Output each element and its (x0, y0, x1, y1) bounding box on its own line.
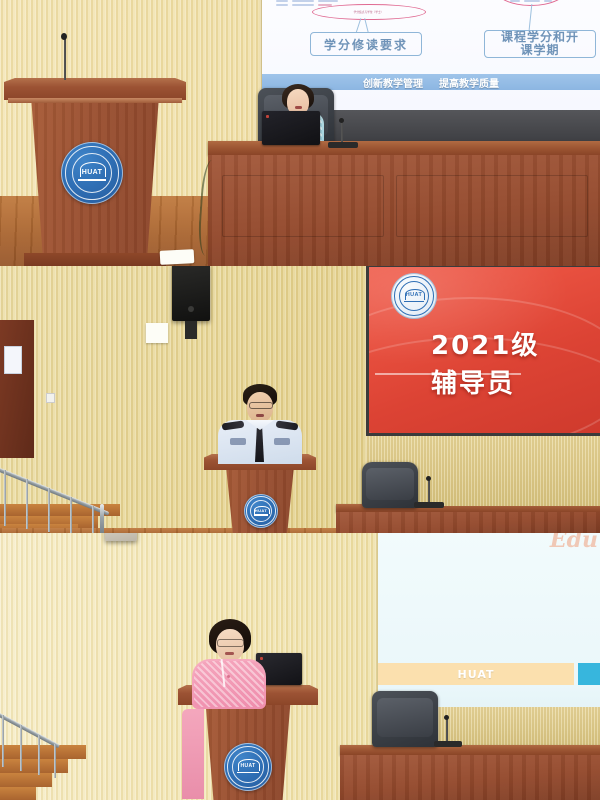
office-chair (372, 691, 438, 747)
podium-mic-head (61, 33, 67, 40)
speaker-mount (185, 321, 197, 339)
laptop-screen (262, 111, 320, 145)
led-banner-screen: 2021级 辅导员 HUAT (366, 266, 600, 436)
huat-seal-banner: HUAT (391, 273, 437, 319)
collage-panel-middle: 2021级 辅导员 HUAT (0, 266, 600, 533)
handrail-post-4 (70, 497, 72, 533)
slide-connector-right (529, 4, 533, 30)
slide-callout-right: 课程学分和开 课学期 (484, 30, 596, 58)
collage-panel-bottom: Edu HUAT (0, 533, 600, 800)
handrail-vertical-end (100, 504, 104, 533)
stair-handrail (0, 701, 62, 800)
podium-mic-stem (64, 38, 66, 80)
conference-desk (208, 141, 600, 266)
handrail-post-3 (38, 735, 40, 775)
speaker-cone (188, 306, 194, 312)
mic-head (426, 476, 431, 481)
slide-callout-left: 学分修读要求 (310, 32, 422, 56)
officer-mouth (256, 414, 264, 417)
podium-base (24, 253, 166, 266)
conference-desk (336, 504, 600, 533)
pink-speaker (180, 619, 290, 709)
slide-table-left (276, 0, 338, 6)
slide-connector-left (356, 18, 362, 33)
banner-content: 2021级 辅导员 HUAT (369, 267, 600, 433)
huat-seal-podium: HUAT (224, 743, 272, 791)
seal-bar (237, 772, 258, 773)
handrail-post-3 (48, 488, 50, 532)
slide-connector-left2 (364, 18, 369, 33)
handrail-bar (0, 709, 60, 748)
wall-switch (46, 393, 55, 403)
huat-seal-podium: HUAT (61, 142, 123, 204)
desk-panel-line-1 (222, 175, 384, 237)
pink-speaker-mouth (225, 652, 234, 655)
photo-collage: 学分绩点与学位（学士） 学分修读要求 课程学分和开 课学期 创新教学管理 提高教… (0, 0, 600, 800)
handrail-post-1 (2, 715, 4, 767)
banner-line2: 辅导员 (431, 363, 515, 400)
chair-cushion (366, 468, 413, 500)
mic-base (414, 502, 444, 508)
speaker-mouth (295, 106, 302, 109)
mic-stem (446, 719, 448, 743)
wall-speaker (172, 266, 210, 321)
seal-bar (78, 179, 105, 181)
office-chair (362, 462, 418, 508)
mic-base (434, 741, 462, 747)
pink-speaker-glasses (217, 639, 244, 647)
slide-cursive-text: Edu (550, 533, 598, 553)
slide-footer-right: 提高教学质量 (439, 75, 499, 90)
podium-top (4, 78, 186, 100)
podium: HUAT (4, 78, 186, 266)
pink-speaker-skirt (182, 709, 204, 799)
officer-badge-right (274, 438, 290, 445)
laptop-logo (266, 115, 269, 118)
slide-accent-block (578, 663, 600, 685)
wall-speaker (105, 533, 137, 541)
wall-notice (146, 323, 168, 343)
slide-ellipse-highlight: 学分绩点与学位（学士） (312, 4, 426, 20)
slide-footer-label: HUAT (458, 668, 495, 681)
collage-panel-top: 学分绩点与学位（学士） 学分修读要求 课程学分和开 课学期 创新教学管理 提高教… (0, 0, 600, 266)
floor-paper (160, 249, 195, 265)
officer-glasses (249, 402, 273, 409)
slide-content: Edu HUAT (378, 533, 600, 707)
officer-badge-left (230, 438, 246, 445)
handrail-post-2 (20, 725, 22, 771)
seal-acronym: HUAT (82, 169, 103, 176)
handrail-post-4 (54, 744, 56, 778)
desk-front (340, 755, 600, 800)
desk-panel-line-2 (396, 175, 588, 237)
pink-speaker-lace-pattern (194, 661, 264, 707)
conference-desk (340, 745, 600, 800)
slide-footer-left: 创新教学管理 (363, 75, 423, 90)
seal-acronym: HUAT (240, 764, 255, 769)
banner-line1: 2021级 (431, 325, 539, 362)
podium-lip (8, 98, 183, 103)
pink-speaker-buttons (227, 675, 230, 678)
stair-handrail (0, 438, 116, 533)
mic-head (444, 715, 449, 720)
huat-seal-podium: HUAT (244, 494, 278, 528)
desk-front (336, 512, 600, 533)
seal-acronym: HUAT (406, 293, 422, 299)
handrail-post-2 (26, 479, 28, 529)
chair-cushion (377, 698, 432, 737)
seal-acronym: HUAT (255, 509, 267, 513)
projection-screen: Edu HUAT (378, 533, 600, 707)
slide-footer-bar: HUAT (378, 663, 574, 685)
door-notice (4, 346, 22, 374)
police-officer (200, 384, 320, 464)
slide-ellipse-label: 学分绩点与学位（学士） (354, 10, 384, 14)
mic-base (328, 142, 358, 148)
handrail-post-5 (92, 506, 94, 533)
seal-bar (404, 301, 424, 302)
mic-stem (428, 480, 430, 504)
handrail-post-1 (4, 470, 6, 526)
podium: HUAT (204, 454, 316, 533)
slide-callout-right-line2: 课学期 (520, 44, 559, 57)
seal-bar (254, 514, 269, 515)
mic-head (339, 118, 344, 123)
